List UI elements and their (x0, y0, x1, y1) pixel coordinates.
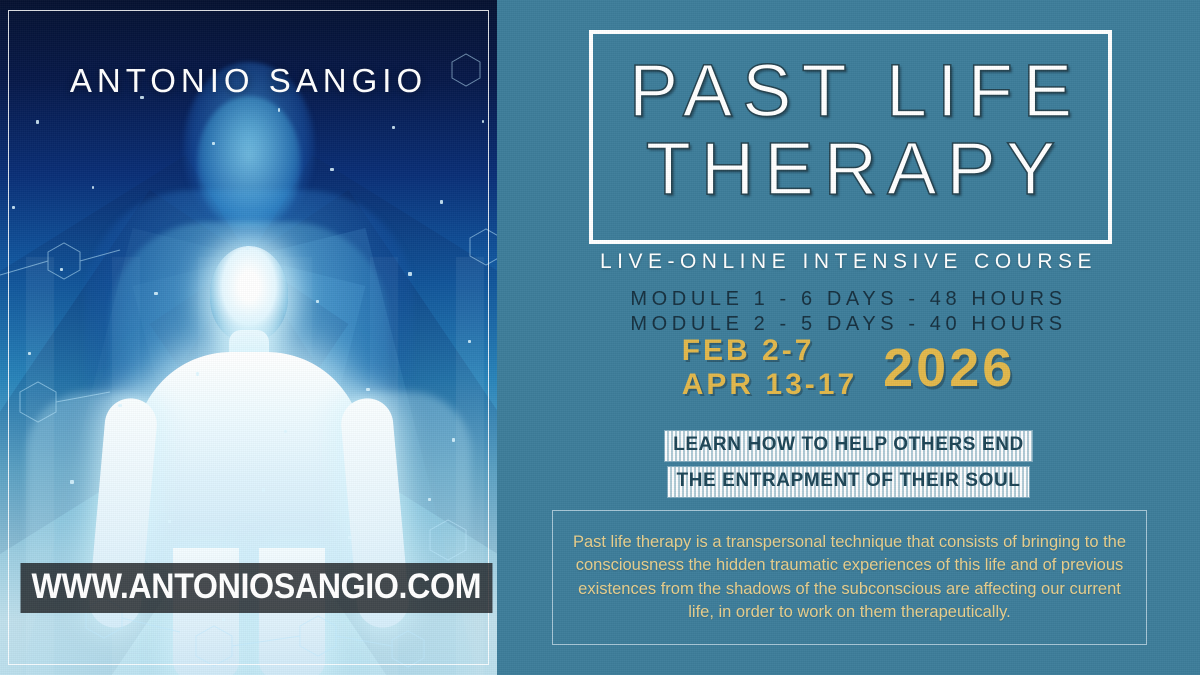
poster-root: ANTONIO SANGIO WWW.ANTONIOSANGIO.COM PAS… (0, 0, 1200, 675)
description-text: Past life therapy is a transpersonal tec… (569, 531, 1130, 625)
tagline-row: LEARN HOW TO HELP OTHERS END (497, 431, 1200, 467)
module-list: MODULE 1 - 6 DAYS - 48 HOURS MODULE 2 - … (497, 287, 1200, 337)
title-line-2: THERAPY (593, 134, 1108, 204)
dates-block: FEB 2-7 APR 13-17 2026 (497, 334, 1200, 401)
tagline-2: THE ENTRAPMENT OF THEIR SOUL (668, 467, 1028, 497)
author-name: ANTONIO SANGIO (0, 62, 497, 100)
module-line: MODULE 1 - 6 DAYS - 48 HOURS (497, 287, 1200, 312)
date-range-1: FEB 2-7 (682, 334, 857, 368)
description-box: Past life therapy is a transpersonal tec… (552, 510, 1147, 645)
website-banner: WWW.ANTONIOSANGIO.COM (0, 563, 497, 613)
title-box: PAST LIFE THERAPY (589, 30, 1112, 244)
course-subtitle: LIVE-ONLINE INTENSIVE COURSE (497, 250, 1200, 274)
year-label: 2026 (883, 341, 1015, 395)
website-url[interactable]: WWW.ANTONIOSANGIO.COM (21, 563, 493, 613)
tagline-1: LEARN HOW TO HELP OTHERS END (665, 431, 1032, 461)
content-panel: PAST LIFE THERAPY LIVE-ONLINE INTENSIVE … (497, 0, 1200, 675)
title-line-1: PAST LIFE (593, 56, 1108, 126)
artwork-panel: ANTONIO SANGIO WWW.ANTONIOSANGIO.COM (0, 0, 497, 675)
tagline-group: LEARN HOW TO HELP OTHERS END THE ENTRAPM… (497, 431, 1200, 503)
date-ranges: FEB 2-7 APR 13-17 (682, 334, 857, 401)
tagline-row: THE ENTRAPMENT OF THEIR SOUL (497, 467, 1200, 503)
date-range-2: APR 13-17 (682, 368, 857, 402)
